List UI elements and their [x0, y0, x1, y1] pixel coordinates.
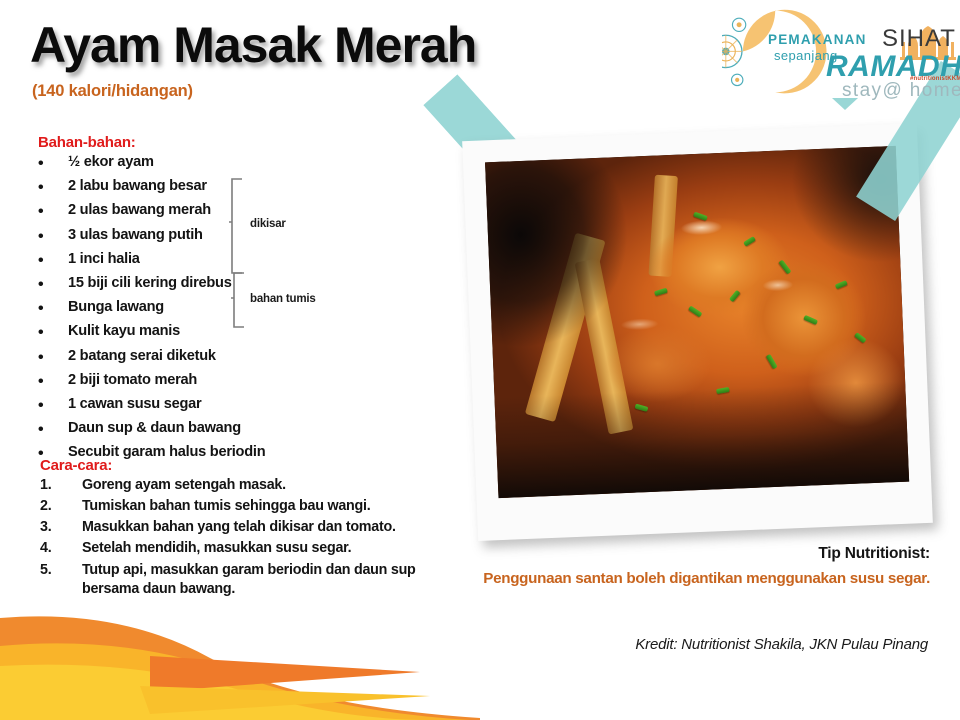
brace-bahan-tumis-icon	[230, 272, 248, 328]
list-item: •Daun sup & daun bawang	[38, 420, 358, 444]
infographic-canvas: Ayam Masak Merah (140 kalori/hidangan) B…	[0, 0, 960, 720]
list-item: •1 cawan susu segar	[38, 396, 358, 420]
bullet-icon: •	[38, 348, 68, 368]
bullet-icon: •	[38, 154, 68, 174]
list-item: 5.Tutup api, masukkan garam beriodin dan…	[40, 561, 440, 599]
ramadhan-campaign-logo: PEMAKANAN sepanjang SIHAT RAMADHAN stay@…	[722, 6, 958, 110]
bullet-icon: •	[38, 323, 68, 343]
bullet-icon: •	[38, 420, 68, 440]
photo-image	[485, 146, 909, 498]
brace-label-dikisar: dikisar	[250, 218, 286, 230]
list-item: •2 ulas bawang merah	[38, 202, 358, 226]
list-item: •1 inci halia	[38, 251, 358, 275]
tip-label: Tip Nutritionist:	[818, 545, 930, 563]
tip-text: Penggunaan santan boleh digantikan mengg…	[483, 570, 930, 587]
bullet-icon: •	[38, 202, 68, 222]
list-item: •2 labu bawang besar	[38, 178, 358, 202]
brace-label-bahan-tumis: bahan tumis	[250, 293, 316, 305]
list-item: •3 ulas bawang putih	[38, 227, 358, 251]
list-item: •2 batang serai diketuk	[38, 348, 358, 372]
bullet-icon: •	[38, 227, 68, 247]
logo-pemakanan-text: PEMAKANAN	[768, 32, 867, 47]
list-item: 4.Setelah mendidih, masukkan susu segar.	[40, 539, 440, 558]
logo-hashtag-text: #nutritionistKKM	[910, 76, 960, 82]
list-item: •½ ekor ayam	[38, 154, 358, 178]
list-item: 1.Goreng ayam setengah masak.	[40, 476, 440, 495]
bullet-icon: •	[38, 396, 68, 416]
ingredients-list: •½ ekor ayam •2 labu bawang besar •2 ula…	[38, 154, 358, 468]
list-item: •2 biji tomato merah	[38, 372, 358, 396]
bullet-icon: •	[38, 275, 68, 295]
logo-stay-home-text: stay@ home	[842, 80, 960, 102]
list-item: 3.Masukkan bahan yang telah dikisar dan …	[40, 518, 440, 537]
method-steps: 1.Goreng ayam setengah masak. 2.Tumiskan…	[40, 476, 440, 601]
method-heading: Cara-cara:	[40, 457, 112, 474]
list-item: 2.Tumiskan bahan tumis sehingga bau wang…	[40, 497, 440, 516]
bullet-icon: •	[38, 251, 68, 271]
logo-sihat-text: SIHAT	[882, 25, 956, 53]
bullet-icon: •	[38, 299, 68, 319]
bullet-icon: •	[38, 372, 68, 392]
ingredients-heading: Bahan-bahan:	[38, 134, 136, 151]
page-title: Ayam Masak Merah	[30, 16, 476, 74]
calorie-subtitle: (140 kalori/hidangan)	[32, 82, 193, 101]
brace-dikisar-icon	[228, 178, 246, 274]
bullet-icon: •	[38, 178, 68, 198]
footer-band: nutritionist KKM ..Peneraju Pemakanan Ne…	[0, 600, 960, 720]
list-item: •Kulit kayu manis	[38, 323, 358, 347]
